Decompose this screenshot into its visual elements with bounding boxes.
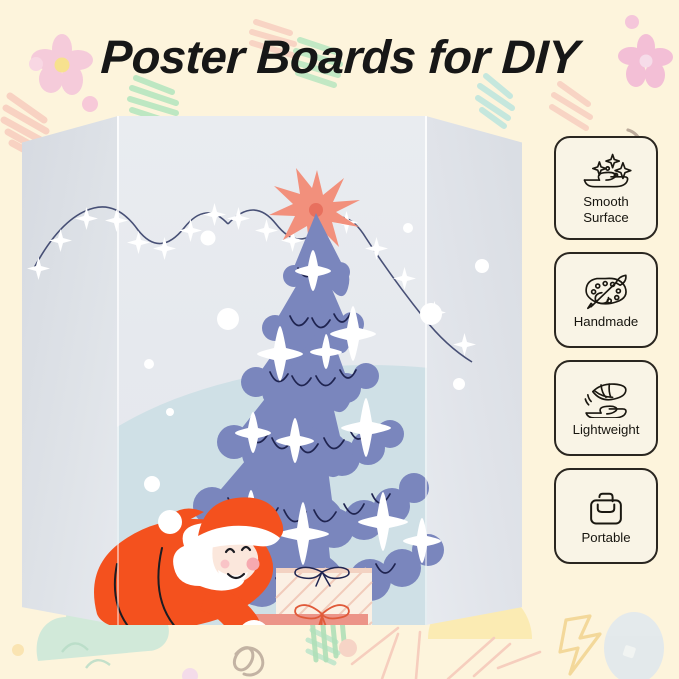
santa-hat-pompom (158, 510, 182, 534)
badge-portable-label: Portable (581, 530, 630, 545)
badge-handmade[interactable]: Handmade (554, 252, 658, 348)
badge-lightweight[interactable]: Lightweight (554, 360, 658, 456)
badge-portable[interactable]: Portable (554, 468, 658, 564)
badge-smooth-surface-label: Smooth Surface (583, 194, 628, 225)
squiggle-brown-icon (234, 648, 262, 675)
briefcase-icon (579, 488, 633, 526)
board-fold-right (425, 116, 427, 625)
lightning-bolt-icon (560, 616, 600, 674)
scribble-mint-icon (308, 630, 338, 663)
badge-label-line1: Smooth (583, 194, 628, 209)
tri-fold-poster-board (22, 116, 522, 625)
badge-smooth-surface[interactable]: Smooth Surface (554, 136, 658, 240)
feature-badges: Smooth Surface Handmade (547, 136, 665, 564)
board-artwork (22, 116, 522, 625)
poster-image: Poster Boards for DIY (0, 0, 679, 679)
santa-nose (247, 558, 260, 571)
page-title: Poster Boards for DIY (0, 16, 679, 96)
dot-doodle (82, 96, 98, 112)
badge-handmade-label: Handmade (574, 314, 639, 329)
palette-brush-icon (579, 272, 633, 310)
balloon-icon (604, 612, 664, 679)
page-title-text: Poster Boards for DIY (99, 29, 580, 84)
dot-doodle (12, 644, 24, 656)
hand-sparkle-icon (579, 152, 633, 190)
cloud-detail (62, 643, 110, 668)
feather-hand-icon (579, 380, 633, 418)
badge-lightweight-label: Lightweight (573, 422, 640, 437)
dot-doodle (339, 639, 357, 657)
board-fold-left (117, 116, 119, 625)
santa-cheek (221, 560, 230, 569)
badge-label-line2: Surface (583, 210, 628, 225)
dot-doodle (182, 668, 198, 679)
